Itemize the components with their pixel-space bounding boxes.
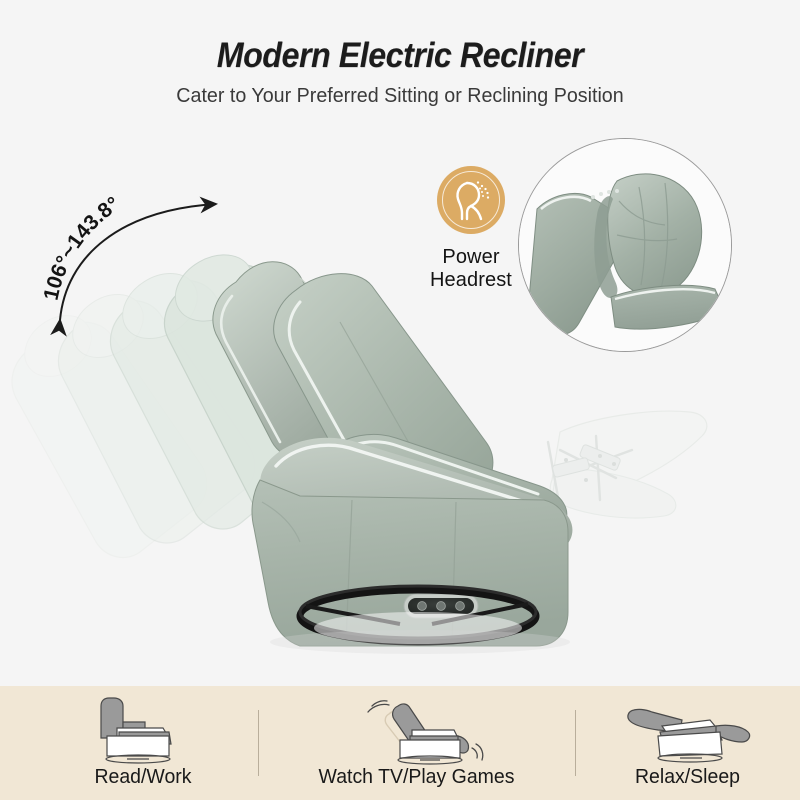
power-headrest-icon [437, 166, 505, 234]
badge-label-line1: Power [442, 246, 499, 268]
headrest-closeup-inset [518, 138, 732, 352]
feature-relax-sleep[interactable]: Relax/Sleep [575, 686, 800, 800]
headrest-closeup-photo [519, 139, 731, 351]
chair-reclined-icon [342, 692, 492, 766]
infographic-page: Modern Electric Recliner Cater to Your P… [0, 0, 800, 800]
feature-read-work[interactable]: Read/Work [28, 686, 258, 800]
angle-range-label: 106°~143.8° [40, 192, 124, 302]
feature-label: Relax/Sleep [581, 767, 795, 788]
feature-label: Watch TV/Play Games [266, 767, 567, 788]
recline-angle-annotation: 106°~143.8° [38, 160, 298, 360]
floor-shadow [270, 630, 570, 654]
page-title: Modern Electric Recliner [32, 38, 768, 73]
feature-strip: Read/Work [0, 686, 800, 800]
chair-flat-icon [618, 692, 758, 766]
badge-label-line2: Headrest [430, 269, 512, 291]
control-buttons[interactable] [418, 602, 465, 611]
ghost-footrest [548, 411, 707, 518]
header: Modern Electric Recliner Cater to Your P… [0, 0, 800, 120]
page-subtitle: Cater to Your Preferred Sitting or Recli… [16, 86, 784, 107]
svg-text:106°~143.8°: 106°~143.8° [40, 192, 124, 302]
feature-label: Read/Work [34, 767, 253, 788]
chair-upright-icon [83, 692, 203, 766]
feature-watch-tv[interactable]: Watch TV/Play Games [258, 686, 575, 800]
angle-value-text: 106°~143.8° [38, 160, 298, 360]
